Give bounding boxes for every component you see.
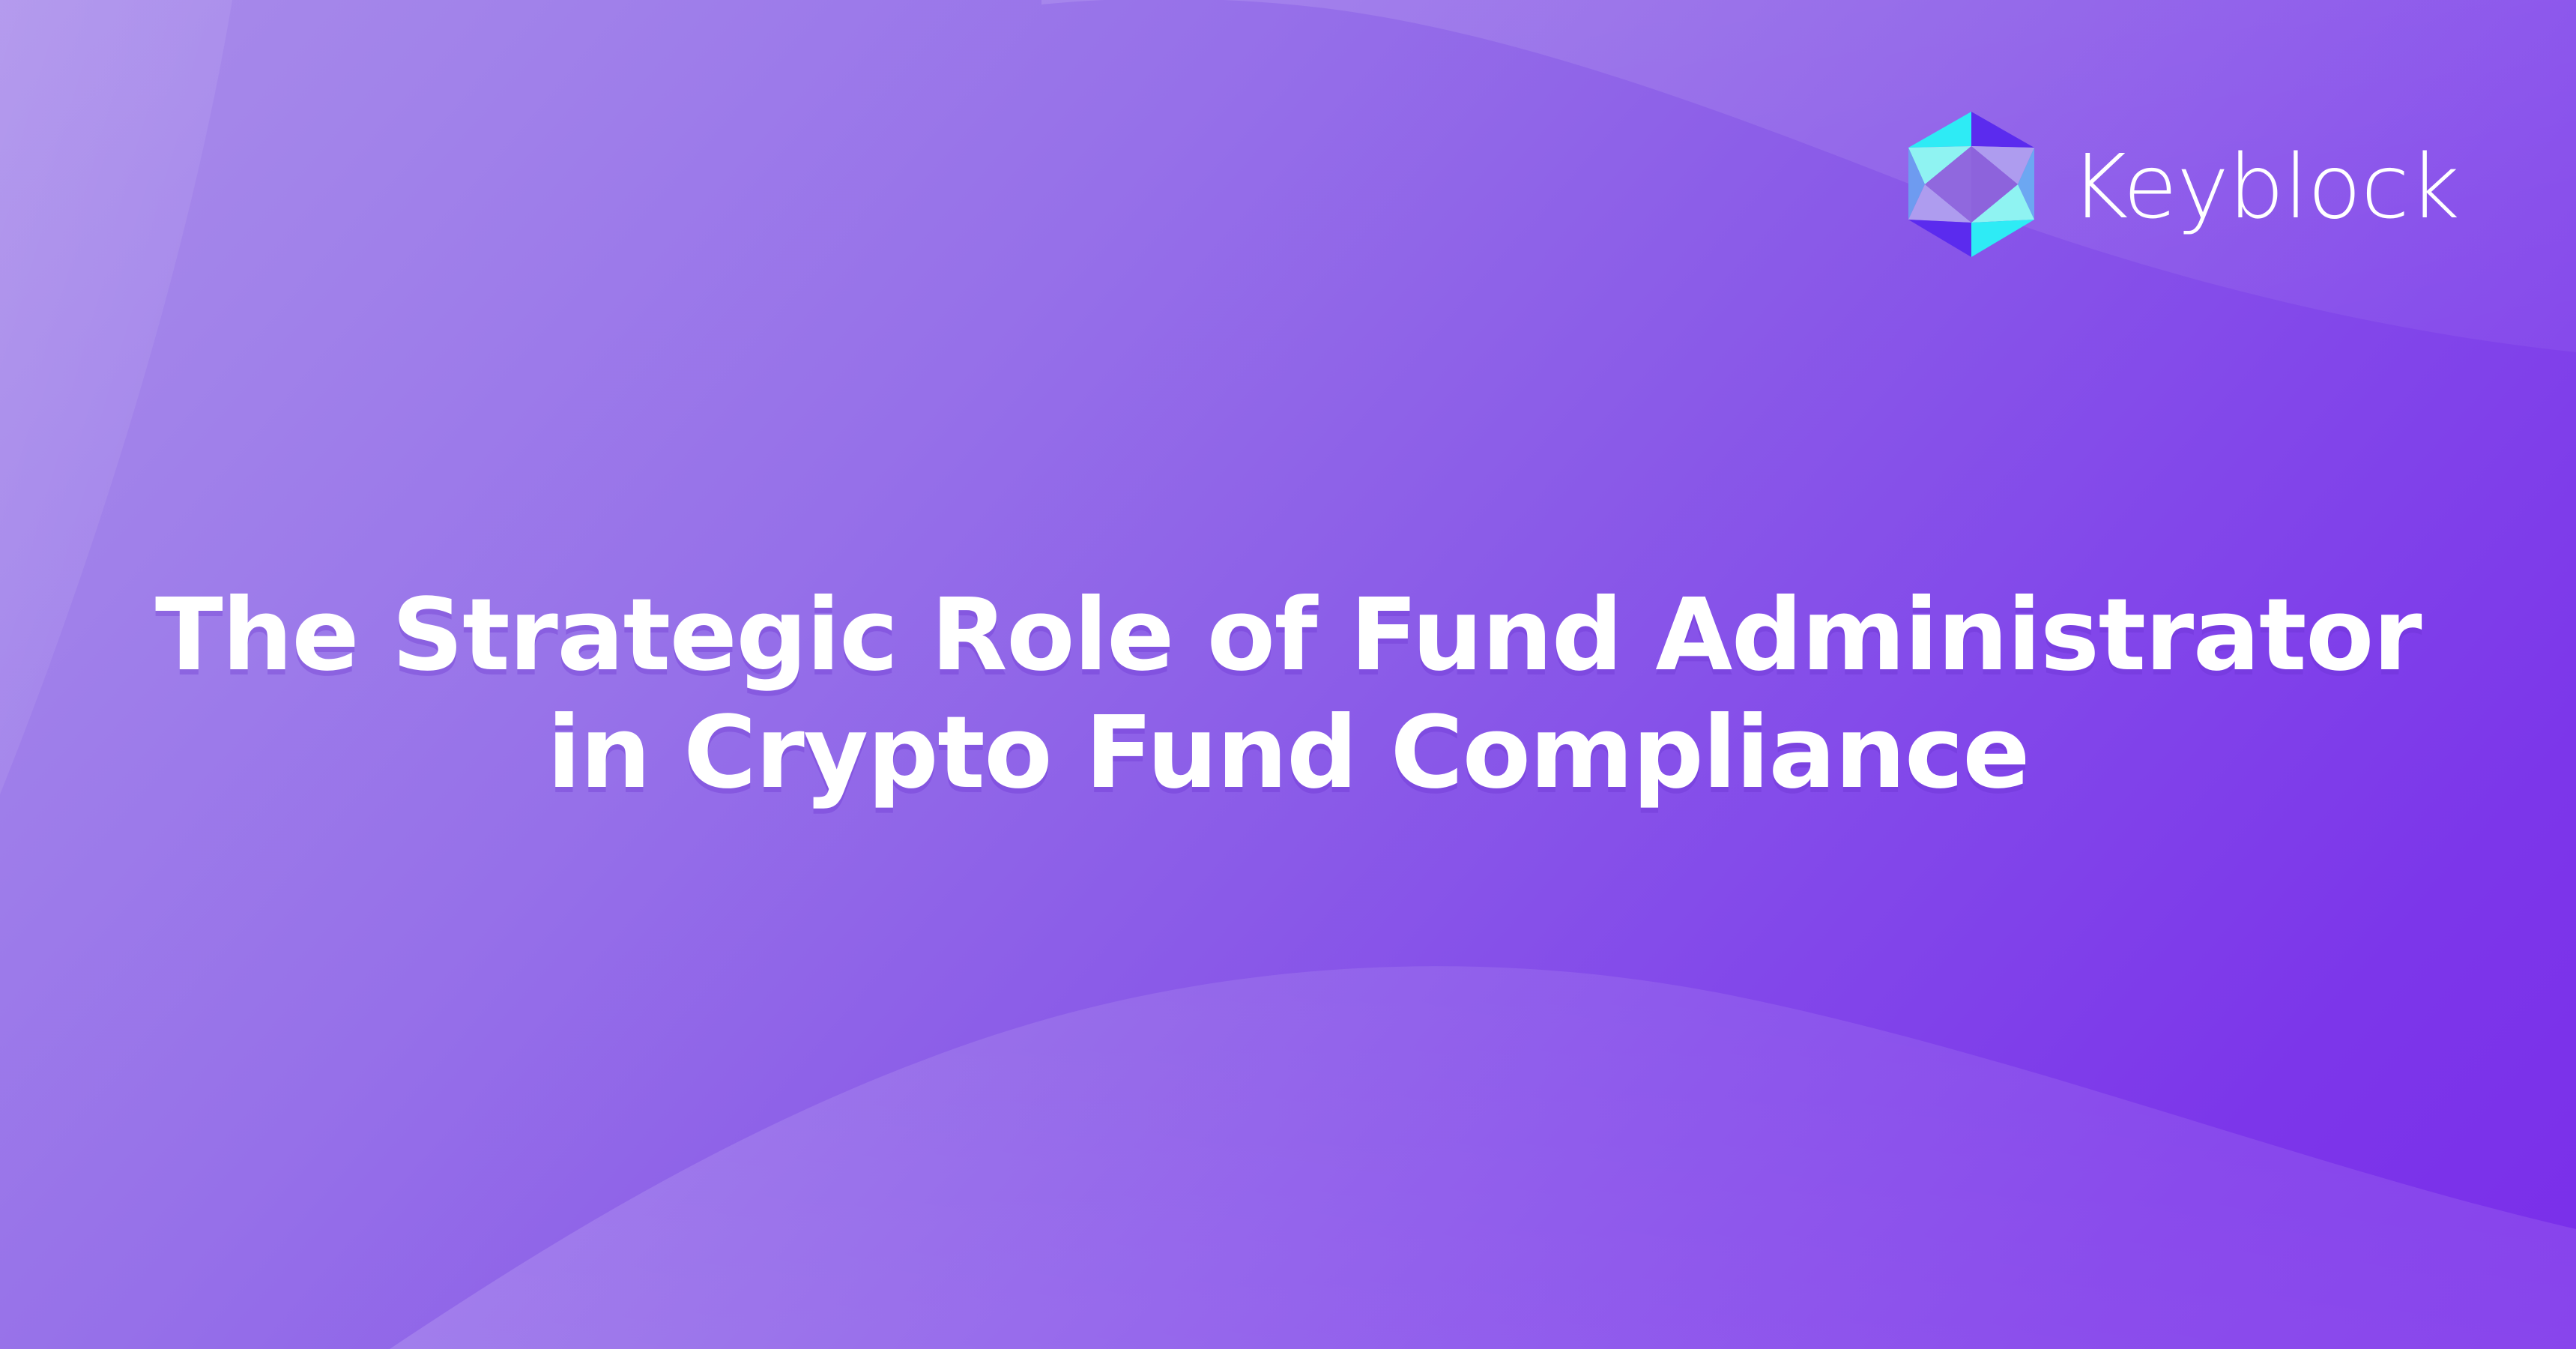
facet-bottom-right-cyan — [1971, 220, 2034, 257]
wave-bottom-arc — [390, 966, 2576, 1349]
facet-top-left-cyan — [1908, 112, 1971, 148]
facet-top-right-violet — [1971, 112, 2034, 148]
brand-logo-lockup[interactable]: Keyblock — [1905, 109, 2459, 259]
brand-wordmark: Keyblock — [2070, 142, 2459, 231]
page-title-line-1: The Strategic Role of Fund Administrator — [90, 577, 2486, 695]
keyblock-hexagon-gem-icon — [1905, 110, 2037, 259]
page-title: The Strategic Role of Fund Administrator… — [90, 577, 2486, 812]
facet-bottom-left-violet — [1908, 220, 1971, 257]
page-title-line-2: in Crypto Fund Compliance — [90, 695, 2486, 812]
banner-canvas: Keyblock The Strategic Role of Fund Admi… — [0, 0, 2576, 1349]
headline-block: The Strategic Role of Fund Administrator… — [0, 577, 2576, 812]
